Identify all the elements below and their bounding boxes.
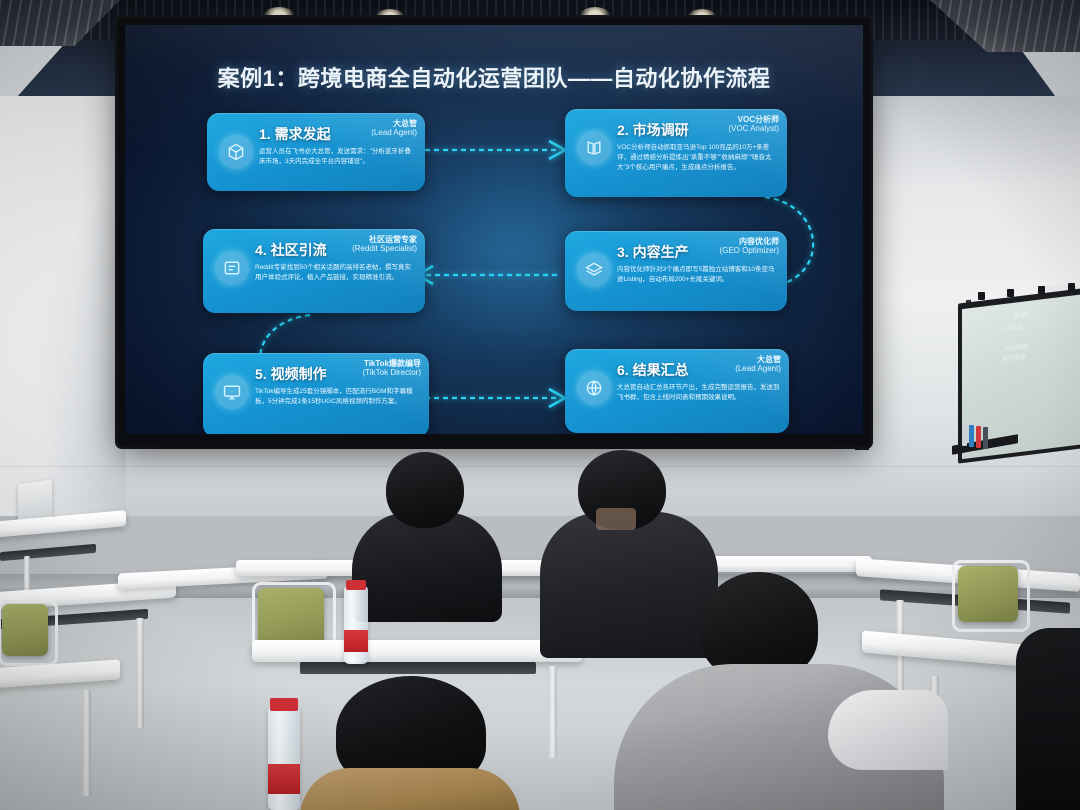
whiteboard-clip-2: [1007, 289, 1014, 297]
flow-card-4-number: 4. 社区引流: [255, 240, 327, 260]
desk-leg-2: [136, 618, 144, 728]
marker-3[interactable]: [976, 426, 981, 448]
flow-card-3-number: 3. 内容生产: [617, 242, 689, 262]
flow-card-6-body: 大总管自动汇总各环节产出，生成完整运营报告，发送到飞书群，包含上线时间表和预期效…: [617, 383, 781, 403]
flow-card-4-head: 4. 社区引流 社区运营专家 (Reddit Specialist): [255, 236, 419, 266]
desk-underframe-1: [0, 544, 96, 561]
marker-1[interactable]: [962, 424, 967, 446]
flow-card-6-number: 6. 结果汇总: [617, 360, 689, 380]
bottle-cap-2: [270, 698, 298, 711]
globe-icon: [577, 371, 611, 405]
whiteboard-clip-1: [978, 292, 985, 300]
presentation-screen[interactable]: 案例1：跨境电商全自动化运营团队——自动化协作流程: [118, 18, 870, 446]
layers-icon: [577, 253, 611, 287]
flow-card-4-body: Reddit专家找到50个相关话题的高排名老帖，撰写真实用户体验式评论，植入产品…: [255, 263, 417, 283]
bottle-label-1: [344, 630, 368, 652]
flow-card-3[interactable]: 3. 内容生产 内容优化师 (GEO Optimizer) 内容优化师针对3个痛…: [565, 231, 787, 311]
flow-card-3-body: 内容优化师针对3个痛点即写5篇独立站博客和10条亚马逊Listing，自动布局2…: [617, 265, 779, 285]
flow-card-3-head: 3. 内容生产 内容优化师 (GEO Optimizer): [617, 238, 781, 268]
flow-card-6[interactable]: 6. 结果汇总 大总管 (Lead Agent) 大总管自动汇总各环节产出，生成…: [565, 349, 789, 433]
desk-center-row-2: [252, 640, 582, 662]
flow-card-4[interactable]: 4. 社区引流 社区运营专家 (Reddit Specialist) Reddi…: [203, 229, 425, 313]
water-bottle-2[interactable]: [268, 706, 300, 810]
whiteboard-line-4: 执行反馈: [1002, 353, 1026, 365]
flow-card-5[interactable]: 5. 视频制作 TikTok爆款编导 (TikTok Director) Tik…: [203, 353, 429, 434]
flow-card-3-role: 内容优化师 (GEO Optimizer): [719, 237, 779, 255]
person-1-head: [386, 452, 464, 528]
marker-2[interactable]: [969, 425, 974, 447]
person-2-neck: [596, 508, 636, 530]
chair-frame-right-1: [952, 560, 1030, 632]
wall-left-panel: [0, 96, 126, 516]
flow-card-5-number: 5. 视频制作: [255, 364, 327, 384]
wall-seam: [0, 466, 1080, 467]
desk-leg-3: [82, 690, 91, 796]
classroom-scene: 案例1：跨境电商全自动化运营团队——自动化协作流程: [0, 0, 1080, 810]
flow-card-4-role: 社区运营专家 (Reddit Specialist): [352, 235, 417, 253]
person-1-body: [352, 512, 502, 622]
flow-card-5-body: TikTok编导生成25套分镜脚本，匹配流行BGM和字幕模板，5分钟完成1条15…: [255, 387, 421, 407]
bottle-cap-1: [346, 580, 366, 590]
whiteboard-line-2: (Final): [1006, 324, 1023, 335]
person-4-hood: [828, 690, 948, 770]
whiteboard-clip-4: [1068, 283, 1075, 291]
flow-card-6-role: 大总管 (Lead Agent): [735, 355, 781, 373]
monitor-icon: [215, 375, 249, 409]
flow-card-6-head: 6. 结果汇总 大总管 (Lead Agent): [617, 356, 783, 386]
chair-frame-left-1: [0, 600, 58, 666]
person-3-body: [300, 768, 520, 810]
whiteboard-line-1: 案例2: [1014, 311, 1029, 322]
screen-reflection: [125, 25, 863, 213]
person-5-arm: [1016, 628, 1080, 810]
flow-card-5-head: 5. 视频制作 TikTok爆款编导 (TikTok Director): [255, 360, 423, 390]
person-2-body: [540, 512, 718, 658]
bottle-label-2: [268, 764, 300, 794]
whiteboard-clip-3: [1038, 286, 1045, 294]
slide-canvas: 案例1：跨境电商全自动化运营团队——自动化协作流程: [125, 25, 863, 434]
water-bottle-1[interactable]: [344, 586, 368, 664]
marker-4[interactable]: [983, 427, 988, 449]
list-icon: [215, 251, 249, 285]
desk-leg-4: [548, 666, 557, 758]
desk-underframe-4: [300, 662, 536, 674]
flow-card-5-role: TikTok爆款编导 (TikTok Director): [363, 359, 421, 377]
